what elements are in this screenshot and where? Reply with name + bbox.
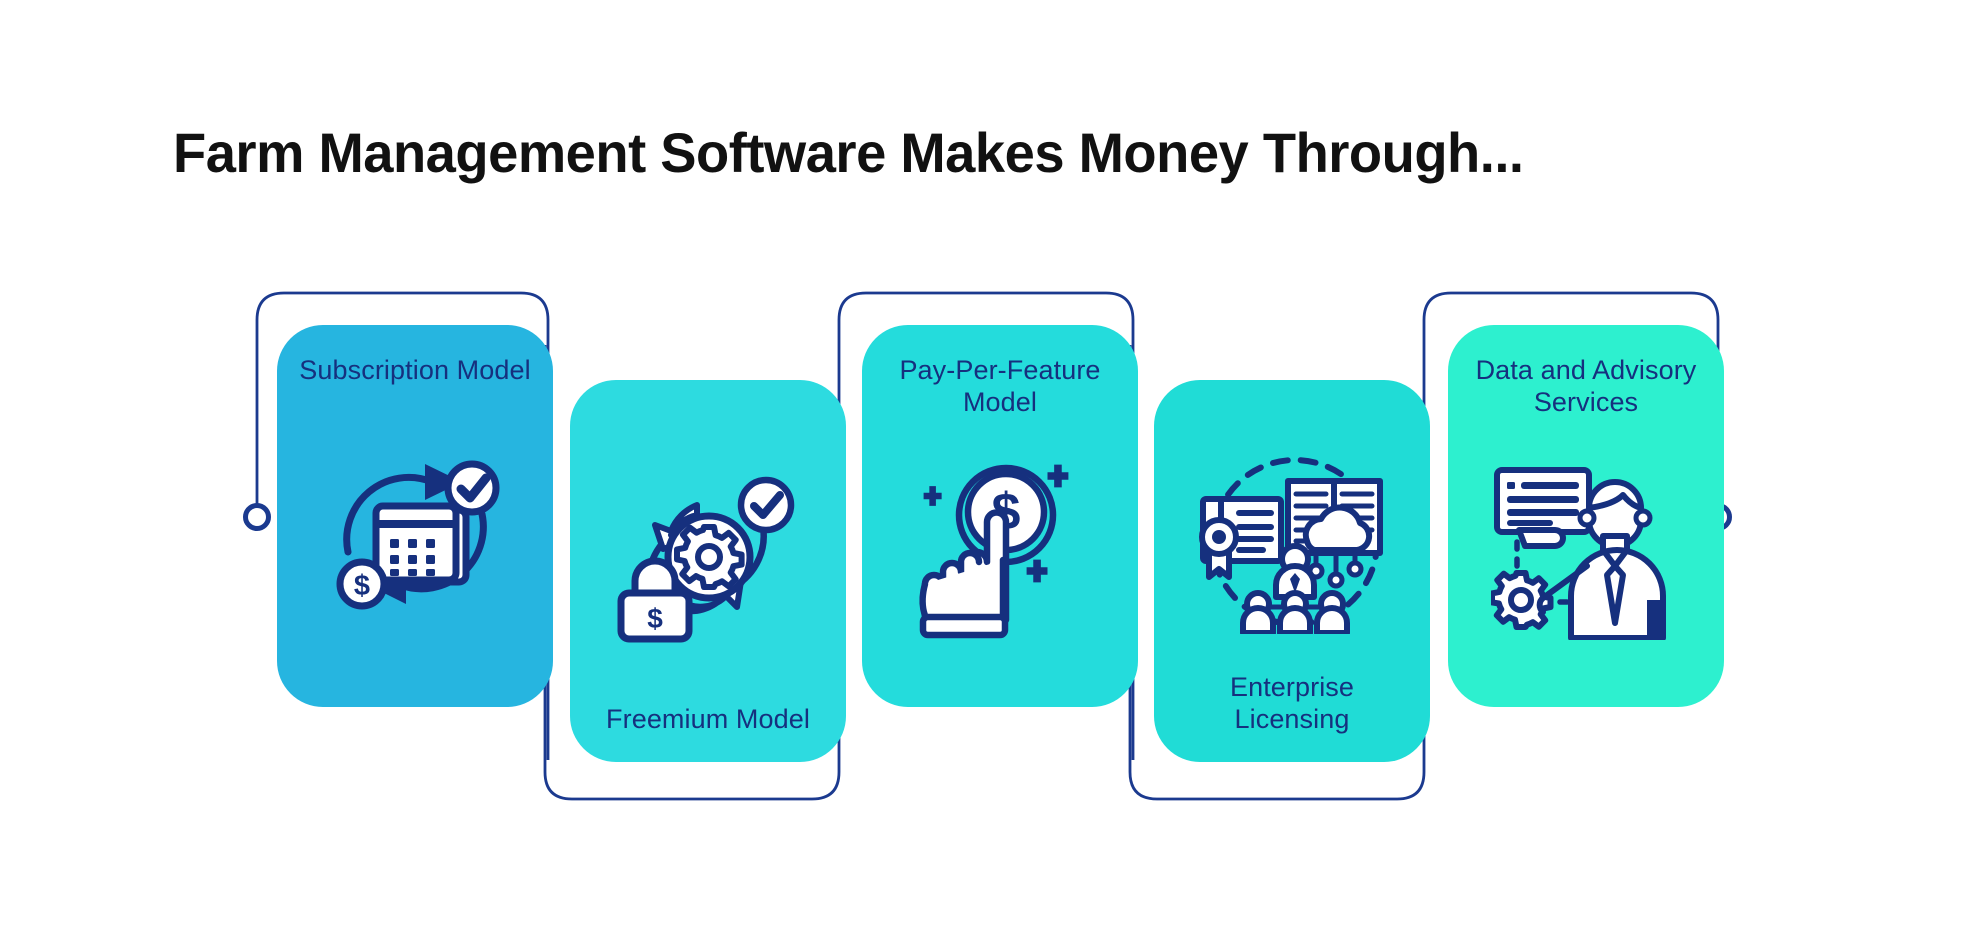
card-slot-2: Freemium Model <box>570 380 846 762</box>
svg-text:$: $ <box>647 603 663 634</box>
left-end-dot <box>246 506 269 529</box>
svg-text:$: $ <box>354 570 370 602</box>
advisor-dashboard-icon <box>1491 460 1681 640</box>
card-icon-2: $ <box>588 410 828 704</box>
gear-lock-upgrade-icon: $ <box>613 467 803 647</box>
card-label-3: Pay-Per-Feature Model <box>880 355 1120 419</box>
card-slot-5: Data and Advisory Services <box>1448 325 1724 707</box>
card-label-5: Data and Advisory Services <box>1466 355 1706 419</box>
card-slot-4: Enterprise Licensing <box>1154 380 1430 762</box>
hand-tap-coin-icon: $ <box>905 457 1095 642</box>
card-icon-5 <box>1466 419 1706 681</box>
card-icon-3: $ <box>880 419 1120 681</box>
card-label-4: Enterprise Licensing <box>1172 672 1412 736</box>
process-flow: Subscription Model <box>0 0 1979 937</box>
calendar-recurring-payment-icon: $ <box>320 444 510 624</box>
card-subscription-model[interactable]: Subscription Model <box>277 325 553 707</box>
certificate-team-cloud-icon <box>1195 449 1390 634</box>
card-icon-4 <box>1172 410 1412 672</box>
card-label-2: Freemium Model <box>606 704 810 736</box>
card-enterprise-licensing[interactable]: Enterprise Licensing <box>1154 380 1430 762</box>
card-slot-3: Pay-Per-Feature Model $ <box>862 325 1138 707</box>
infographic-canvas: Farm Management Software Makes Money Thr… <box>0 0 1979 937</box>
card-label-1: Subscription Model <box>299 355 530 387</box>
card-freemium-model[interactable]: Freemium Model <box>570 380 846 762</box>
card-icon-1: $ <box>295 387 535 681</box>
card-data-advisory-services[interactable]: Data and Advisory Services <box>1448 325 1724 707</box>
card-pay-per-feature-model[interactable]: Pay-Per-Feature Model $ <box>862 325 1138 707</box>
card-slot-1: Subscription Model <box>277 325 553 707</box>
